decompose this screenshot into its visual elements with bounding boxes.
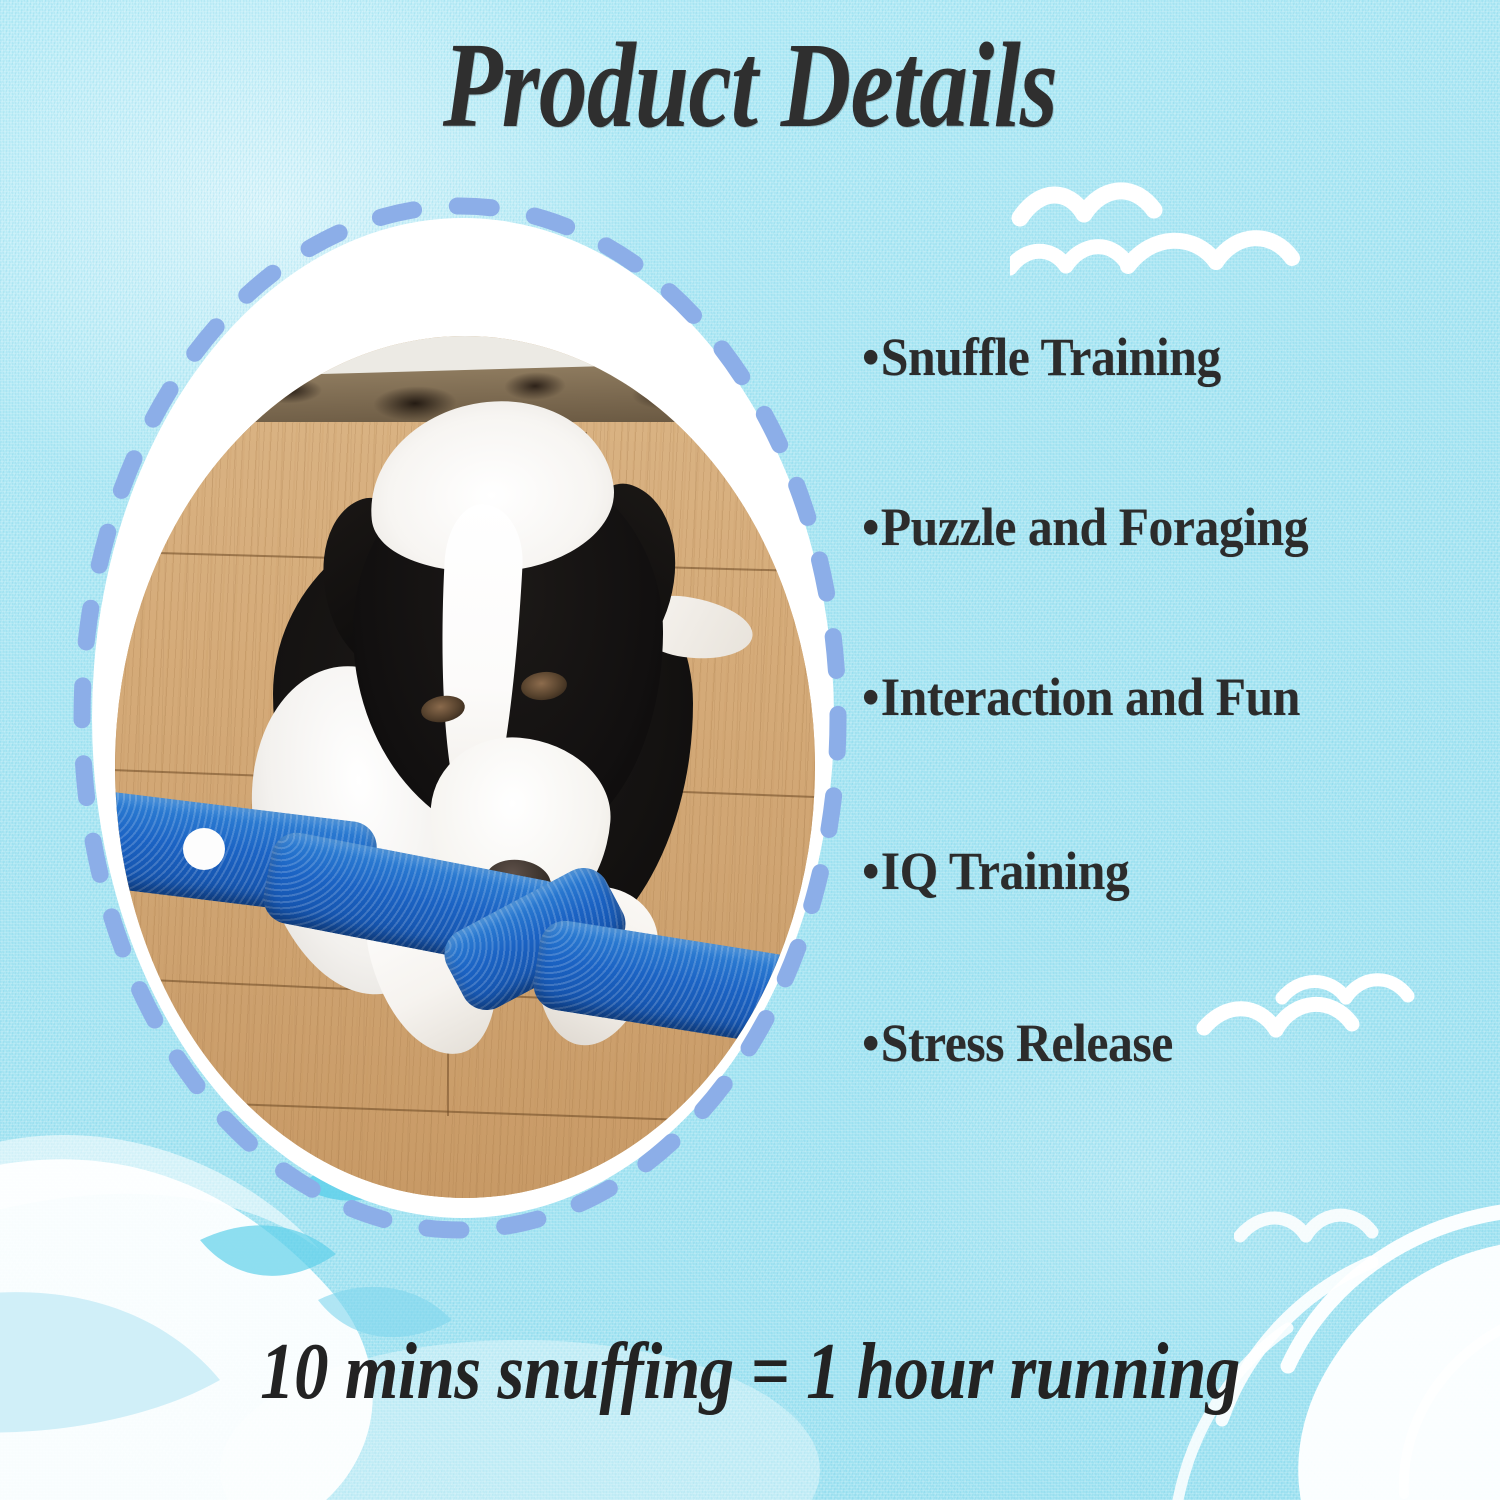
page-title: Product Details bbox=[150, 22, 1350, 150]
feature-item-puzzle-and-foraging: • Puzzle and Foraging bbox=[862, 500, 1451, 554]
feature-list: • Snuffle Training • Puzzle and Foraging… bbox=[862, 330, 1500, 1070]
feature-item-interaction-and-fun: • Interaction and Fun bbox=[862, 670, 1451, 724]
bullet-icon: • bbox=[862, 670, 879, 724]
feature-item-stress-release: • Stress Release bbox=[862, 1016, 1451, 1070]
feature-label: IQ Training bbox=[881, 844, 1129, 898]
dashed-oval-border bbox=[60, 188, 860, 1248]
seagulls-top-right-icon bbox=[1010, 160, 1310, 310]
feature-label: Snuffle Training bbox=[881, 330, 1221, 384]
product-details-graphic: Product Details bbox=[0, 0, 1500, 1500]
feature-item-iq-training: • IQ Training bbox=[862, 844, 1451, 898]
photo-frame bbox=[60, 188, 860, 1248]
feature-item-snuffle-training: • Snuffle Training bbox=[862, 330, 1451, 384]
feature-label: Puzzle and Foraging bbox=[881, 500, 1308, 554]
bullet-icon: • bbox=[862, 500, 879, 554]
bullet-icon: • bbox=[862, 844, 879, 898]
feature-label: Stress Release bbox=[881, 1016, 1173, 1070]
tagline: 10 mins snuffing = 1 hour running bbox=[105, 1332, 1395, 1412]
bullet-icon: • bbox=[862, 330, 879, 384]
seagulls-lower-right-icon bbox=[1234, 1180, 1424, 1290]
feature-label: Interaction and Fun bbox=[881, 670, 1300, 724]
bullet-icon: • bbox=[862, 1016, 879, 1070]
